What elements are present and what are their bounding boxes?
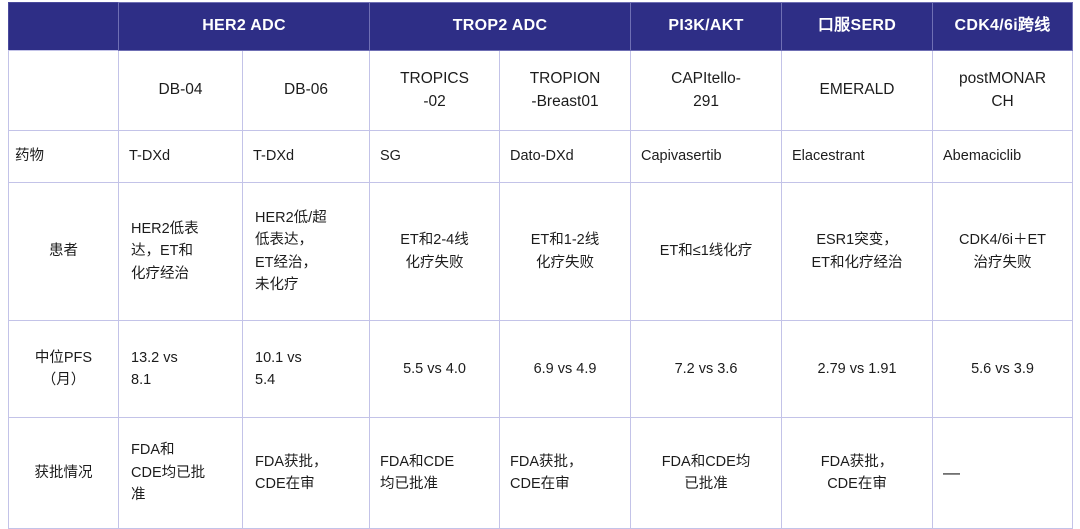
- cell-drug-tropics02: SG: [370, 131, 500, 183]
- table-header-row: HER2 ADC TROP2 ADC PI3K/AKT 口服SERD CDK4/…: [9, 3, 1073, 51]
- approval-tropics02-text: FDA和CDE均已批准: [376, 451, 493, 496]
- patient-capitello-text: ET和≤1线化疗: [637, 240, 775, 262]
- approval-db06-text: FDA获批，CDE在审: [249, 451, 363, 496]
- drug-postmonarch-text: Abemaciclib: [939, 145, 1066, 167]
- cell-pfs-emerald: 2.79 vs 1.91: [782, 321, 933, 418]
- cell-patient-tropion-breast01: ET和1-2线化疗失败: [500, 183, 631, 321]
- breast-cancer-trials-comparison-table: HER2 ADC TROP2 ADC PI3K/AKT 口服SERD CDK4/…: [8, 2, 1073, 529]
- trial-capitello291-text: CAPItello-291: [637, 68, 775, 113]
- table-row-approval-status: 获批情况 FDA和CDE均已批准 FDA获批，CDE在审 FDA和CDE均已批准…: [9, 418, 1073, 529]
- cell-drug-tropion-breast01: Dato-DXd: [500, 131, 631, 183]
- pfs-db04-text: 13.2 vs8.1: [125, 347, 236, 392]
- drug-capitello-text: Capivasertib: [637, 145, 775, 167]
- patient-tropion-text: ET和1-2线化疗失败: [506, 229, 624, 274]
- approval-tropion-text: FDA获批，CDE在审: [506, 451, 624, 496]
- drug-tropics02-text: SG: [376, 145, 493, 167]
- approval-postmonarch-text: —: [939, 460, 1066, 486]
- cell-approval-tropics02: FDA和CDE均已批准: [370, 418, 500, 529]
- patient-db04-text: HER2低表达，ET和化疗经治: [125, 218, 236, 285]
- cell-pfs-capitello291: 7.2 vs 3.6: [631, 321, 782, 418]
- pfs-postmonarch-text: 5.6 vs 3.9: [939, 358, 1066, 380]
- cell-approval-tropion-breast01: FDA获批，CDE在审: [500, 418, 631, 529]
- cell-patient-emerald: ESR1突变，ET和化疗经治: [782, 183, 933, 321]
- header-group-trop2-adc: TROP2 ADC: [370, 3, 631, 51]
- cell-approval-db04: FDA和CDE均已批准: [119, 418, 243, 529]
- header-group-oral-serd: 口服SERD: [782, 3, 933, 51]
- cell-pfs-tropics02: 5.5 vs 4.0: [370, 321, 500, 418]
- cell-patient-db06: HER2低/超低表达，ET经治，未化疗: [243, 183, 370, 321]
- pfs-capitello-text: 7.2 vs 3.6: [637, 358, 775, 380]
- drug-db06-text: T-DXd: [249, 145, 363, 167]
- patient-tropics02-text: ET和2-4线化疗失败: [376, 229, 493, 274]
- approval-capitello-text: FDA和CDE均已批准: [637, 451, 775, 496]
- trial-postmonarch-text: postMONARCH: [939, 68, 1066, 113]
- row-label-patient: 患者: [9, 183, 119, 321]
- cell-pfs-db06: 10.1 vs5.4: [243, 321, 370, 418]
- cell-patient-db04: HER2低表达，ET和化疗经治: [119, 183, 243, 321]
- cell-approval-capitello291: FDA和CDE均已批准: [631, 418, 782, 529]
- table-row-trial-names: DB-04 DB-06 TROPICS-02 TROPION-Breast01 …: [9, 51, 1073, 131]
- trial-tropion-breast01-text: TROPION-Breast01: [506, 68, 624, 113]
- patient-db06-text: HER2低/超低表达，ET经治，未化疗: [249, 207, 363, 297]
- table-row-patient: 患者 HER2低表达，ET和化疗经治 HER2低/超低表达，ET经治，未化疗 E…: [9, 183, 1073, 321]
- cell-trial-tropion-breast01: TROPION-Breast01: [500, 51, 631, 131]
- table-row-drug: 药物 T-DXd T-DXd SG Dato-DXd Capivasertib …: [9, 131, 1073, 183]
- cell-patient-capitello291: ET和≤1线化疗: [631, 183, 782, 321]
- trial-db04-text: DB-04: [125, 79, 236, 101]
- approval-db04-text: FDA和CDE均已批准: [125, 439, 236, 506]
- table-row-median-pfs: 中位PFS（月） 13.2 vs8.1 10.1 vs5.4 5.5 vs 4.…: [9, 321, 1073, 418]
- drug-tropion-text: Dato-DXd: [506, 145, 624, 167]
- cell-trial-db06: DB-06: [243, 51, 370, 131]
- cell-approval-db06: FDA获批，CDE在审: [243, 418, 370, 529]
- cell-pfs-postmonarch: 5.6 vs 3.9: [933, 321, 1073, 418]
- pfs-tropion-text: 6.9 vs 4.9: [506, 358, 624, 380]
- cell-patient-postmonarch: CDK4/6i＋ET治疗失败: [933, 183, 1073, 321]
- pfs-emerald-text: 2.79 vs 1.91: [788, 358, 926, 380]
- row-label-drug: 药物: [9, 131, 119, 183]
- trial-emerald-text: EMERALD: [788, 79, 926, 101]
- header-corner-cell: [9, 3, 119, 51]
- cell-approval-postmonarch: —: [933, 418, 1073, 529]
- header-group-her2-adc: HER2 ADC: [119, 3, 370, 51]
- comparison-table-container: HER2 ADC TROP2 ADC PI3K/AKT 口服SERD CDK4/…: [8, 2, 1072, 502]
- cell-trial-tropics02: TROPICS-02: [370, 51, 500, 131]
- cell-drug-db06: T-DXd: [243, 131, 370, 183]
- cell-drug-capitello291: Capivasertib: [631, 131, 782, 183]
- patient-emerald-text: ESR1突变，ET和化疗经治: [788, 229, 926, 274]
- cell-patient-tropics02: ET和2-4线化疗失败: [370, 183, 500, 321]
- cell-trial-db04: DB-04: [119, 51, 243, 131]
- row-label-median-pfs: 中位PFS（月）: [9, 321, 119, 418]
- cell-trial-emerald: EMERALD: [782, 51, 933, 131]
- approval-emerald-text: FDA获批，CDE在审: [788, 451, 926, 496]
- cell-trial-postmonarch: postMONARCH: [933, 51, 1073, 131]
- header-group-pi3k-akt: PI3K/AKT: [631, 3, 782, 51]
- cell-drug-emerald: Elacestrant: [782, 131, 933, 183]
- trial-tropics02-text: TROPICS-02: [376, 68, 493, 113]
- drug-emerald-text: Elacestrant: [788, 145, 926, 167]
- cell-drug-db04: T-DXd: [119, 131, 243, 183]
- row-label-trial: [9, 51, 119, 131]
- trial-db06-text: DB-06: [249, 79, 363, 101]
- row-label-approval-status: 获批情况: [9, 418, 119, 529]
- cell-drug-postmonarch: Abemaciclib: [933, 131, 1073, 183]
- cell-pfs-db04: 13.2 vs8.1: [119, 321, 243, 418]
- cell-pfs-tropion-breast01: 6.9 vs 4.9: [500, 321, 631, 418]
- cell-approval-emerald: FDA获批，CDE在审: [782, 418, 933, 529]
- drug-db04-text: T-DXd: [125, 145, 236, 167]
- header-group-cdk46i: CDK4/6i跨线: [933, 3, 1073, 51]
- patient-postmonarch-text: CDK4/6i＋ET治疗失败: [939, 229, 1066, 274]
- pfs-db06-text: 10.1 vs5.4: [249, 347, 363, 392]
- cell-trial-capitello291: CAPItello-291: [631, 51, 782, 131]
- pfs-tropics02-text: 5.5 vs 4.0: [376, 358, 493, 380]
